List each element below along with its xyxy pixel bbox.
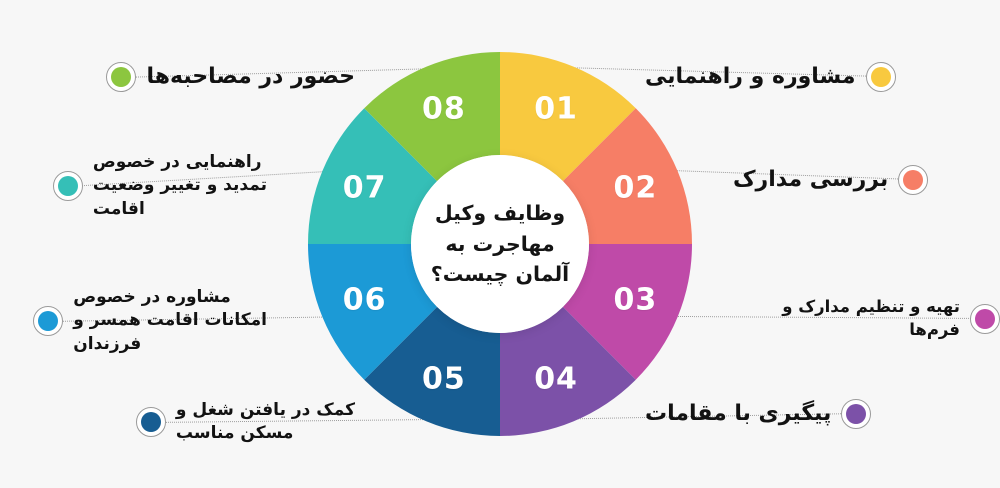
callout-label-06: مشاوره در خصوص امکانات اقامت همسر و فرزن… [73,286,267,356]
bullet-fill-06 [38,311,58,331]
bullet-dot-02-icon [898,165,928,195]
bullet-fill-01 [871,67,891,87]
segment-number-02: 02 [613,170,657,205]
bullet-dot-05-icon [136,407,166,437]
segment-number-06: 06 [343,283,387,318]
callout-06[interactable]: مشاوره در خصوص امکانات اقامت همسر و فرزن… [33,286,267,356]
bullet-dot-04-icon [841,399,871,429]
callout-08[interactable]: حضور در مصاحبه‌ها [106,62,355,92]
callout-label-07: راهنمایی در خصوص تمدید و تغییر وضعیت اقا… [93,151,267,221]
segment-number-07: 07 [343,170,387,205]
callout-label-04: پیگیری با مقامات [645,399,831,429]
callout-01[interactable]: مشاوره و راهنمایی [645,62,896,92]
bullet-fill-04 [846,404,866,424]
callout-label-03: تهیه و تنظیم مدارک و فرم‌ها [733,296,960,342]
donut-chart: 01 02 03 04 05 06 07 08 وظایف وکیل مهاجر… [308,52,692,436]
bullet-dot-03-icon [970,304,1000,334]
bullet-fill-05 [141,412,161,432]
callout-05[interactable]: کمک در یافتن شغل و مسکن مناسب [136,399,355,446]
callout-label-08: حضور در مصاحبه‌ها [146,62,355,92]
bullet-fill-02 [903,170,923,190]
segment-number-01: 01 [534,91,578,126]
segment-number-08: 08 [422,91,466,126]
center-title: وظایف وکیل مهاجرت به آلمان چیست؟ [421,198,579,290]
segment-number-05: 05 [422,362,466,397]
bullet-dot-06-icon [33,306,63,336]
callout-label-02: بررسی مدارک [733,165,888,195]
bullet-fill-07 [58,176,78,196]
bullet-fill-08 [111,67,131,87]
infographic-canvas: 01 02 03 04 05 06 07 08 وظایف وکیل مهاجر… [0,0,1000,488]
bullet-dot-08-icon [106,62,136,92]
callout-02[interactable]: بررسی مدارک [733,165,928,195]
callout-03[interactable]: تهیه و تنظیم مدارک و فرم‌ها [733,296,1000,342]
callout-04[interactable]: پیگیری با مقامات [645,399,871,429]
segment-number-04: 04 [534,362,578,397]
callout-07[interactable]: راهنمایی در خصوص تمدید و تغییر وضعیت اقا… [53,151,267,221]
bullet-dot-01-icon [866,62,896,92]
callout-label-01: مشاوره و راهنمایی [645,62,856,92]
bullet-fill-03 [975,309,995,329]
center-hub: وظایف وکیل مهاجرت به آلمان چیست؟ [411,155,589,333]
callout-label-05: کمک در یافتن شغل و مسکن مناسب [176,399,355,446]
bullet-dot-07-icon [53,171,83,201]
segment-number-03: 03 [613,283,657,318]
